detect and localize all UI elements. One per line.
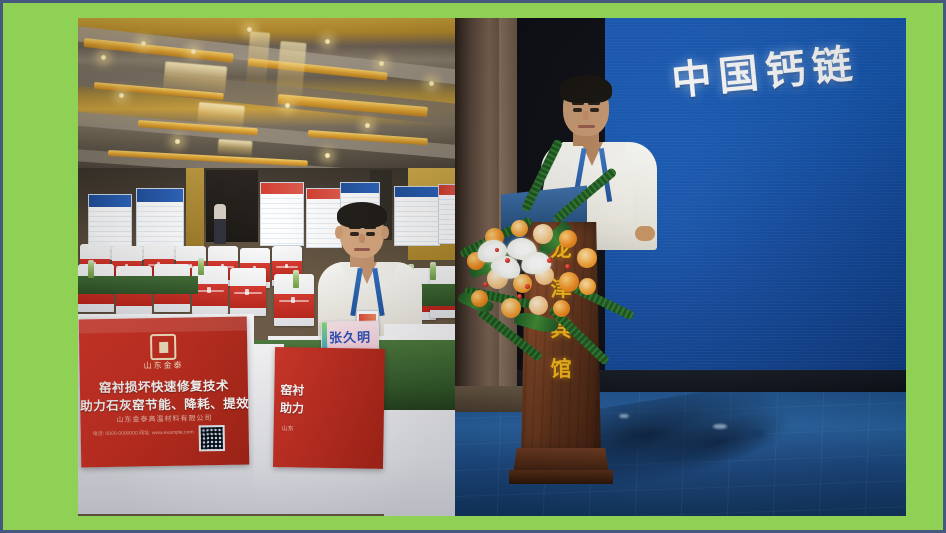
- red-berry: [565, 264, 570, 269]
- orange-rose: [579, 278, 596, 295]
- peach-rose: [533, 224, 553, 244]
- head-table: [78, 276, 198, 294]
- photo-collage: 张久明 窑衬 助力 山东 山东金泰 窑衬损坏快速修复技术 助力石灰窑节能、降耗、…: [78, 18, 906, 516]
- exhibition-poster: [438, 184, 455, 244]
- red-berry: [547, 258, 552, 263]
- ceiling-downlight: [140, 40, 147, 47]
- ceiling-downlight: [246, 26, 253, 33]
- poster-header: [439, 185, 455, 195]
- led-screen-title: 中国钙链: [669, 31, 862, 107]
- orange-rose: [511, 220, 528, 237]
- ceiling-downlight: [100, 54, 107, 61]
- chair-sash-logo: [285, 264, 288, 269]
- presentation-slide: 张久明 窑衬 助力 山东 山东金泰 窑衬损坏快速修复技术 助力石灰窑节能、降耗、…: [0, 0, 946, 533]
- chair-sash-logo: [245, 289, 249, 295]
- banner-brand: 山东金泰: [79, 359, 247, 373]
- red-berry: [505, 258, 510, 263]
- nose: [583, 111, 589, 120]
- mouth: [578, 125, 595, 128]
- poster-header: [307, 189, 341, 199]
- water-bottle: [430, 262, 436, 280]
- banquet-chair: [230, 268, 266, 316]
- water-bottle: [293, 270, 299, 288]
- banner-secondary-line1: 窑衬: [280, 381, 304, 398]
- speaker-hair: [560, 75, 612, 103]
- red-berry: [483, 282, 488, 287]
- chair-sash-logo: [207, 287, 211, 293]
- company-logo-icon: [150, 334, 176, 360]
- poster-body: [439, 195, 455, 243]
- poster-body: [261, 194, 303, 245]
- red-berry: [525, 284, 530, 289]
- poster-header: [341, 183, 379, 193]
- ceiling-downlight: [324, 152, 331, 159]
- poster-header: [261, 183, 303, 194]
- ear: [335, 226, 343, 239]
- poster-header: [89, 195, 131, 207]
- eye: [366, 232, 375, 236]
- background-attendee: [214, 204, 226, 244]
- banner-company-name: 山东金泰高温材料有限公司: [80, 413, 248, 426]
- banner-secondary-line2: 助力: [280, 399, 304, 416]
- chandelier: [163, 61, 227, 96]
- banner-contact: 电话: 0000-0000000 网址: www.example.com: [93, 429, 194, 438]
- ceiling-downlight: [284, 102, 291, 109]
- poster-header: [137, 189, 183, 202]
- orange-gerbera: [577, 248, 597, 268]
- eye: [350, 232, 359, 236]
- flower-arrangement: [455, 194, 615, 334]
- chandelier: [275, 41, 306, 103]
- eye: [573, 108, 582, 112]
- floor-highlight: [619, 414, 629, 418]
- chandelier: [246, 31, 270, 85]
- exhibition-poster: [260, 182, 304, 246]
- table-banner: 山东金泰 窑衬损坏快速修复技术 助力石灰窑节能、降耗、提效 山东金泰高温材料有限…: [79, 317, 250, 468]
- orange-gerbera: [553, 300, 570, 317]
- chandelier: [197, 102, 245, 128]
- water-bottle: [198, 258, 204, 275]
- orange-gerbera: [559, 230, 577, 248]
- hall-ceiling: [78, 18, 455, 193]
- peach-rose: [529, 296, 548, 315]
- delegate-hair: [337, 202, 387, 228]
- delegate-name-text: 张久明: [329, 326, 371, 346]
- right-photo[interactable]: 中国钙链: [455, 18, 906, 516]
- orange-gerbera: [471, 290, 488, 307]
- water-bottle: [88, 260, 94, 278]
- ceiling-downlight: [364, 122, 371, 129]
- left-photo[interactable]: 张久明 窑衬 助力 山东 山东金泰 窑衬损坏快速修复技术 助力石灰窑节能、降耗、…: [78, 18, 455, 516]
- ceiling-downlight: [324, 38, 331, 45]
- ceiling-downlight: [378, 60, 385, 67]
- delegate-name-card: 张久明: [321, 320, 380, 351]
- banner-secondary-sub: 山东: [282, 423, 294, 432]
- ceiling-downlight: [118, 92, 125, 99]
- orange-rose: [559, 272, 579, 292]
- banner-headline-2: 助力石灰窑节能、降耗、提效: [80, 393, 248, 415]
- red-berry: [495, 248, 499, 252]
- qr-code-icon: [199, 425, 225, 451]
- ceiling-downlight: [174, 138, 181, 145]
- mouth: [354, 248, 370, 251]
- name-card-accent: [322, 322, 327, 350]
- chair-sash-logo: [291, 297, 295, 303]
- chandelier: [217, 139, 252, 157]
- table-banner-secondary: 窑衬 助力 山东: [273, 347, 385, 469]
- podium-char-4: 馆: [551, 350, 572, 390]
- poster-header: [395, 187, 439, 197]
- floor-highlight: [713, 424, 727, 429]
- ear: [381, 226, 389, 239]
- orange-gerbera: [501, 298, 521, 318]
- wall-panel: [186, 168, 204, 246]
- eye: [590, 108, 599, 112]
- speaker-hand: [635, 226, 655, 241]
- floor-mark: [747, 430, 765, 438]
- ceiling-downlight: [428, 80, 435, 87]
- ceiling-downlight: [190, 48, 197, 55]
- red-berry: [517, 294, 522, 299]
- podium-foot: [509, 470, 613, 484]
- nose: [359, 234, 365, 243]
